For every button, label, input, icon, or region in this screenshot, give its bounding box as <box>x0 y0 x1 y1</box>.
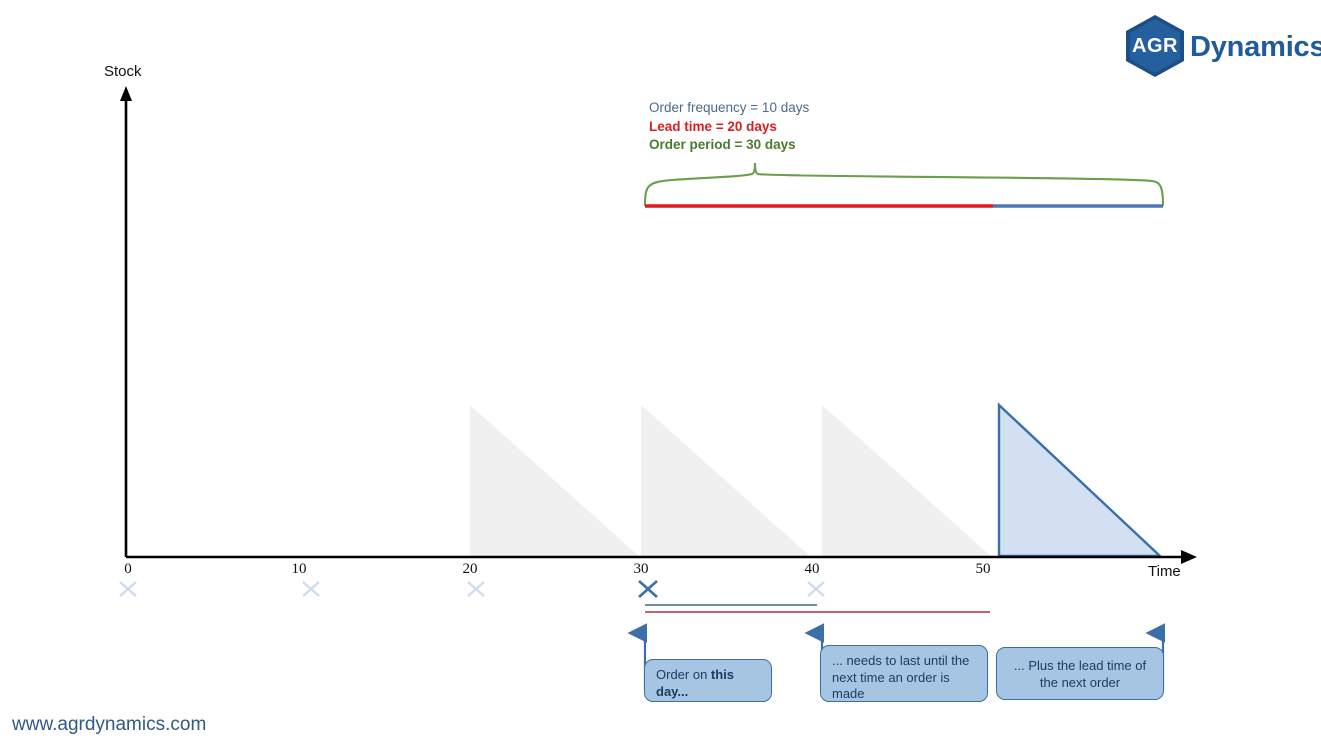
x-tick-10: 10 <box>292 561 307 578</box>
x-tick-20: 20 <box>463 561 478 578</box>
x-tick-40: 40 <box>805 561 820 578</box>
x-axis-label: Time <box>1148 563 1181 580</box>
coverage-bars <box>645 605 990 612</box>
legend-order-frequency: Order frequency = 10 days <box>649 99 979 118</box>
order-x-marker-active <box>639 581 657 597</box>
callout-needs-to-last: ... needs to last until the next time an… <box>820 645 988 702</box>
y-axis-label: Stock <box>104 63 142 80</box>
x-tick-30: 30 <box>634 561 649 578</box>
legend: Order frequency = 10 days Lead time = 20… <box>649 99 979 155</box>
logo-mark-text: AGR <box>1124 14 1186 78</box>
y-axis <box>120 86 132 557</box>
callout-order-on-this-day: Order on this day... <box>644 659 772 702</box>
callout-order-lead: Order on <box>656 667 711 682</box>
highlight-cycle-triangle <box>999 405 1160 556</box>
agr-dynamics-logo: AGR Dynamics <box>1124 14 1314 78</box>
grey-cycle-triangles <box>470 405 992 557</box>
footer-website-url[interactable]: www.agrdynamics.com <box>12 714 206 736</box>
order-x-markers <box>120 581 824 597</box>
logo-word-text: Dynamics <box>1190 31 1321 64</box>
legend-order-period: Order period = 30 days <box>649 136 979 155</box>
x-tick-0: 0 <box>124 561 132 578</box>
legend-lead-time: Lead time = 20 days <box>649 118 979 137</box>
callout-plus-lead-time: ... Plus the lead time of the next order <box>996 647 1164 700</box>
order-period-brace <box>645 163 1163 205</box>
order-x-marker-faint <box>120 582 824 596</box>
x-tick-50: 50 <box>976 561 991 578</box>
diagram-canvas: AGR Dynamics Stock Time 01020304050 Orde… <box>0 0 1321 742</box>
